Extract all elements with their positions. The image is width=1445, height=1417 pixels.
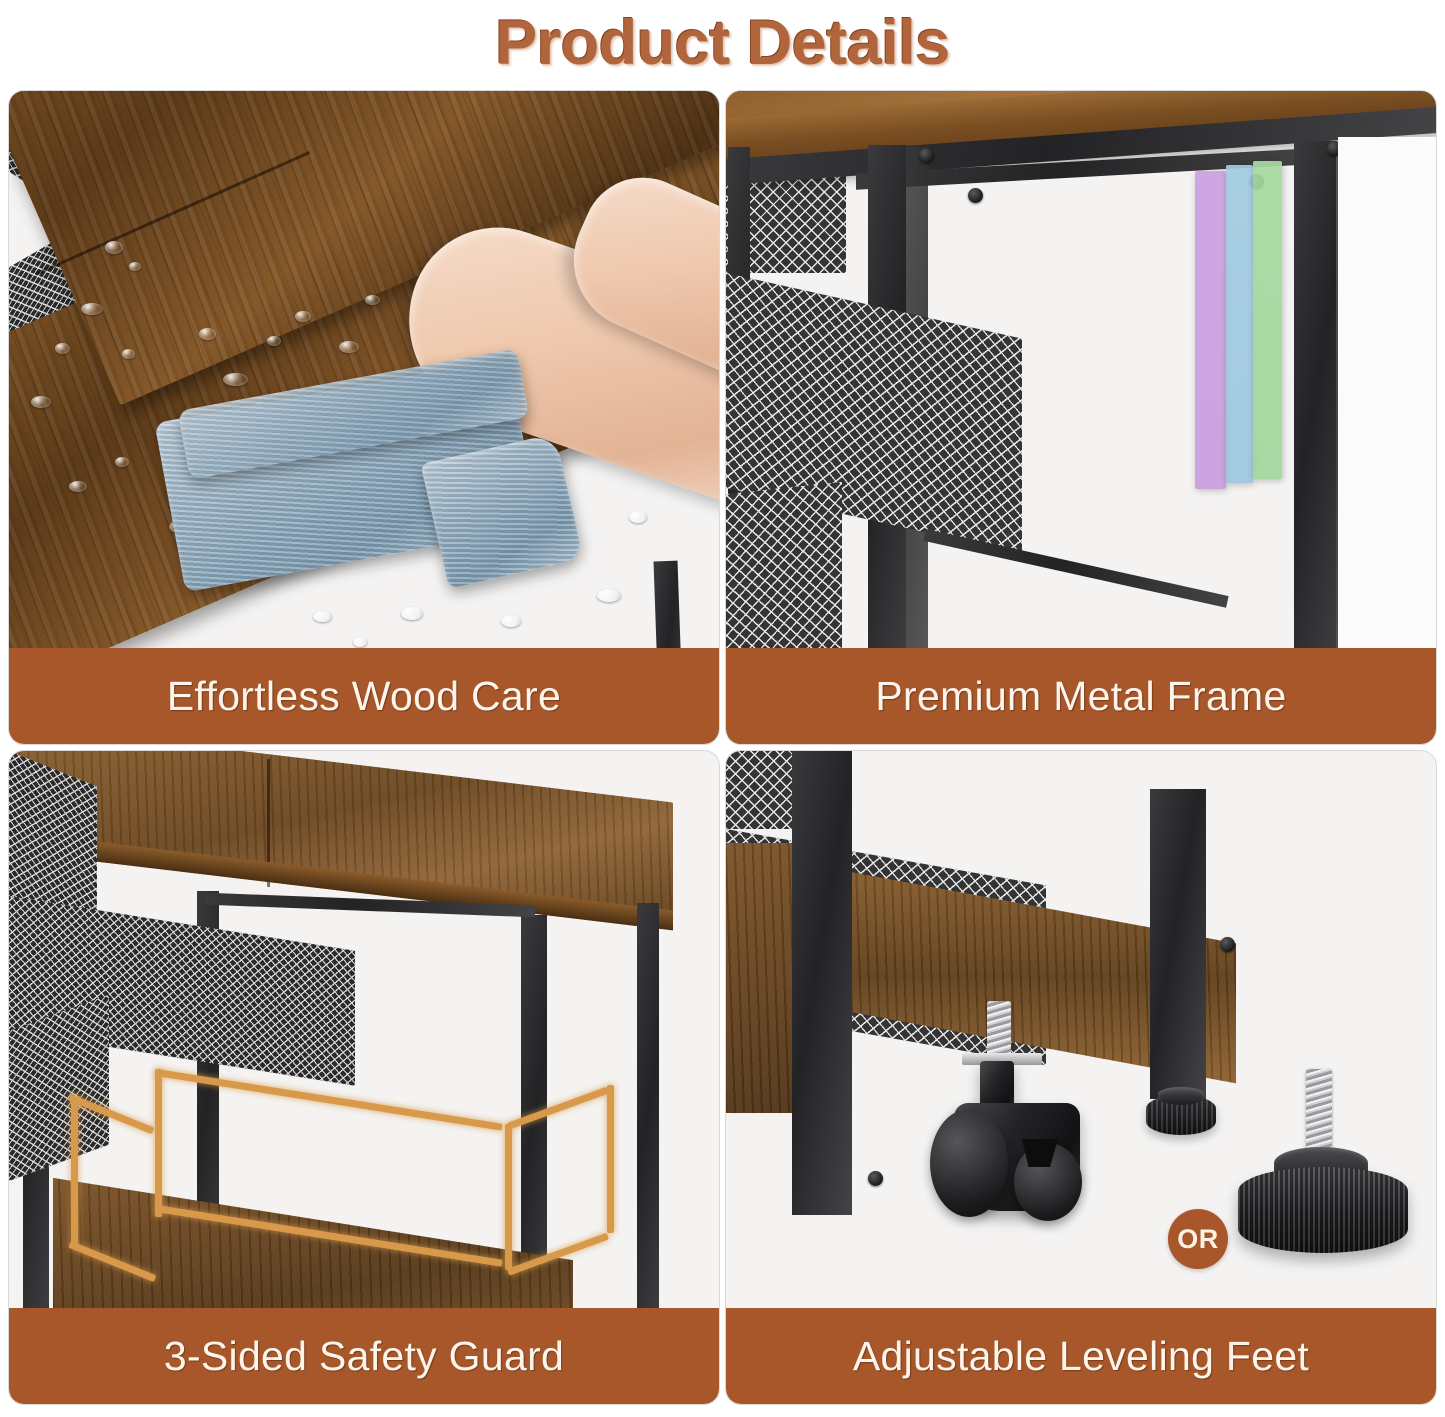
guard-highlight-left-vertical bbox=[71, 1096, 78, 1244]
product-details-infographic: Product Details bbox=[0, 0, 1445, 1417]
panel-caption-text: Effortless Wood Care bbox=[167, 673, 561, 720]
panel-grid: Effortless Wood Care bbox=[8, 90, 1437, 1412]
safety-guard-illustration bbox=[9, 751, 719, 1404]
leveling-feet-illustration: OR bbox=[726, 751, 1436, 1404]
water-droplet bbox=[353, 637, 367, 647]
water-droplet bbox=[629, 511, 647, 523]
side-mesh-panel-right bbox=[726, 482, 842, 674]
installed-leveling-foot-collar bbox=[1158, 1087, 1204, 1105]
panel-caption-bar: 3-Sided Safety Guard bbox=[9, 1308, 719, 1404]
finish-swatch-blue bbox=[1226, 165, 1253, 483]
water-droplet bbox=[55, 343, 70, 354]
water-droplet bbox=[122, 349, 135, 359]
page-title: Product Details bbox=[495, 7, 950, 79]
water-droplet bbox=[267, 336, 281, 346]
mesh-frame-diagonal-rail bbox=[923, 529, 1228, 608]
water-droplet bbox=[69, 481, 87, 492]
metal-frame-illustration bbox=[726, 91, 1436, 744]
water-droplet bbox=[223, 373, 248, 386]
water-droplet bbox=[597, 589, 621, 602]
finish-swatch-purple bbox=[1195, 171, 1226, 489]
panel-caption-text: Adjustable Leveling Feet bbox=[853, 1333, 1309, 1380]
wood-care-illustration bbox=[9, 91, 719, 744]
guard-highlight-corner-left bbox=[155, 1069, 162, 1217]
table-leg-right-post bbox=[1150, 789, 1206, 1099]
shelf-mesh-panel-corner bbox=[726, 751, 796, 829]
guard-highlight-right-vertical bbox=[607, 1085, 614, 1233]
water-droplet bbox=[105, 241, 123, 254]
water-droplet bbox=[199, 328, 216, 340]
leveling-foot-base bbox=[1238, 1167, 1408, 1253]
water-droplet bbox=[365, 295, 380, 305]
guard-highlight-corner-right bbox=[505, 1124, 512, 1270]
finish-swatch-green bbox=[1253, 161, 1282, 479]
panel-adjustable-leveling-feet: OR Adjustable Leveling Feet bbox=[725, 750, 1437, 1405]
panel-caption-bar: Effortless Wood Care bbox=[9, 648, 719, 744]
page-title-area: Product Details bbox=[0, 0, 1445, 86]
table-leg-left-post bbox=[792, 751, 852, 1215]
water-droplet bbox=[339, 341, 359, 353]
caster-threaded-stud bbox=[987, 1001, 1011, 1061]
panel-caption-bar: Adjustable Leveling Feet bbox=[726, 1308, 1436, 1404]
leg-rivet-left bbox=[868, 1171, 883, 1186]
caster-wheel-front bbox=[930, 1109, 1008, 1217]
water-droplet bbox=[501, 615, 521, 627]
panel-caption-text: 3-Sided Safety Guard bbox=[164, 1333, 564, 1380]
frame-rivet bbox=[919, 148, 934, 163]
water-droplet bbox=[313, 611, 332, 622]
panel-effortless-wood-care: Effortless Wood Care bbox=[8, 90, 720, 745]
or-badge-label: OR bbox=[1177, 1224, 1219, 1255]
panel-caption-text: Premium Metal Frame bbox=[875, 673, 1286, 720]
or-badge: OR bbox=[1168, 1209, 1228, 1269]
panel-caption-bar: Premium Metal Frame bbox=[726, 648, 1436, 744]
frame-rivet bbox=[968, 188, 983, 203]
water-droplet bbox=[81, 303, 103, 315]
water-droplet bbox=[31, 396, 51, 408]
water-droplet bbox=[295, 311, 311, 322]
water-droplet bbox=[115, 457, 129, 467]
water-droplet bbox=[401, 607, 423, 620]
panel-premium-metal-frame: Premium Metal Frame bbox=[725, 90, 1437, 745]
panel-3-sided-safety-guard: 3-Sided Safety Guard bbox=[8, 750, 720, 1405]
water-droplet bbox=[129, 262, 141, 271]
leg-rivet-right bbox=[1220, 937, 1235, 952]
